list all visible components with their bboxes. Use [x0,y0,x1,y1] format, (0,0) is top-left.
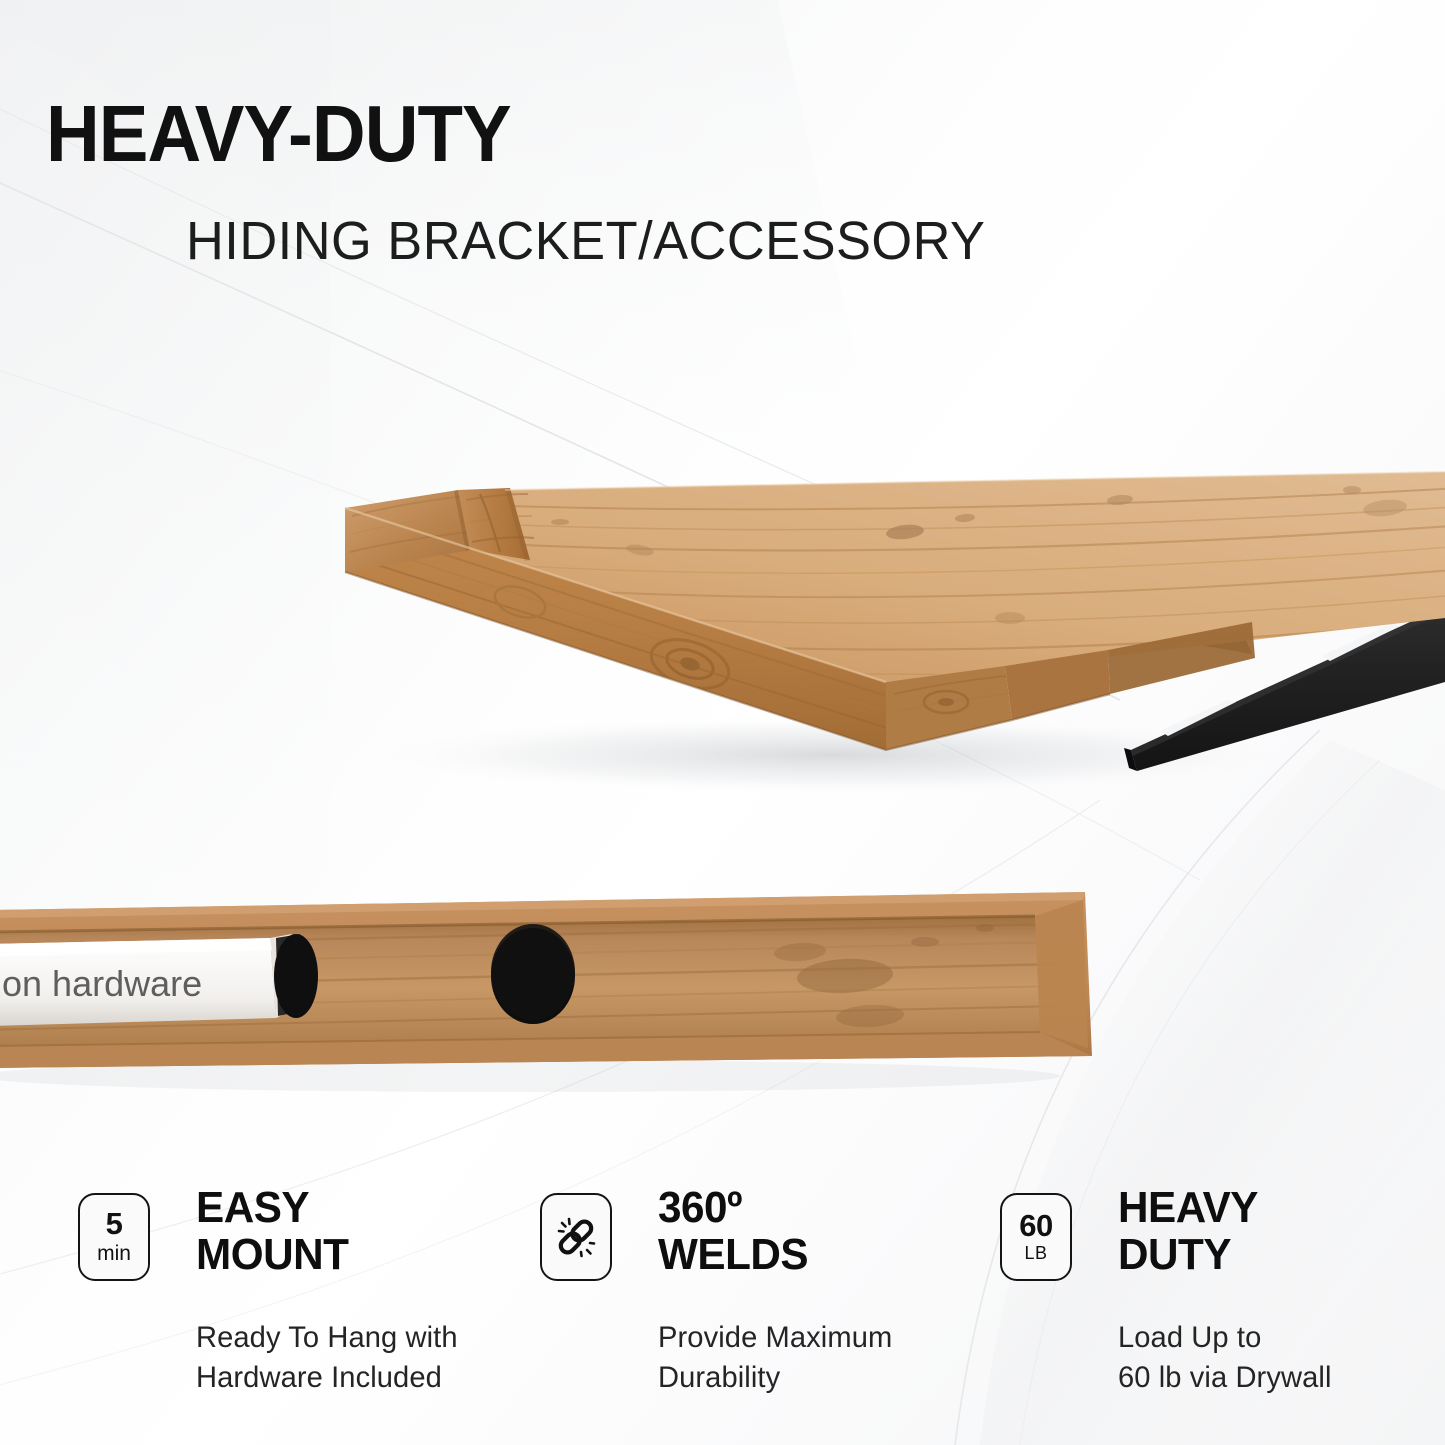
hardware-box-label: ion hardware [0,963,202,1004]
feature-easy-mount: 5 min EASY MOUNT Ready To Hang with Hard… [78,1185,518,1415]
badge-value: 60 [1019,1210,1052,1241]
badge-unit: LB [1024,1244,1047,1264]
feature-heading-line2: DUTY [1118,1232,1258,1279]
feature-heading-line2: MOUNT [196,1232,348,1279]
feature-heading-line1: EASY [196,1185,348,1232]
page-title: HEAVY-DUTY [46,96,1255,172]
headline-group: HEAVY-DUTY HIDING BRACKET/ACCESSORY [46,96,1346,172]
clock-5-min-badge: 5 min [78,1193,150,1281]
feature-desc-line2: 60 lb via Drywall [1118,1358,1332,1398]
weight-60-lb-badge: 60 LB [1000,1193,1072,1281]
shelf-channel-illustration: ion hardware [0,880,1445,1120]
hero-product-image: Installatio [0,250,1445,850]
feature-heading-line2: WELDS [658,1232,808,1279]
feature-desc-line1: Provide Maximum [658,1318,892,1358]
chain-link-glyph [553,1214,599,1260]
feature-heading-line1: 360º [658,1185,808,1232]
feature-heavy-duty: 60 LB HEAVY DUTY Load Up to 60 lb via Dr… [1000,1185,1440,1415]
shelf-with-bracket-illustration: Installatio [0,250,1445,850]
feature-desc-line2: Durability [658,1358,892,1398]
hardware-box-in-channel: ion hardware [0,934,296,1026]
shelf-underside-image: ion hardware [0,880,1445,1120]
feature-heading-line1: HEAVY [1118,1185,1258,1232]
feature-heading: 360º WELDS [658,1185,808,1278]
feature-description: Ready To Hang with Hardware Included [196,1318,458,1398]
badge-unit: min [97,1242,131,1265]
feature-heading: HEAVY DUTY [1118,1185,1258,1278]
feature-strip: 5 min EASY MOUNT Ready To Hang with Hard… [0,1185,1445,1415]
badge-value: 5 [106,1208,123,1239]
feature-heading: EASY MOUNT [196,1185,348,1278]
chain-link-weld-icon [540,1193,612,1281]
feature-desc-line1: Load Up to [1118,1318,1332,1358]
feature-desc-line1: Ready To Hang with [196,1318,458,1358]
feature-description: Provide Maximum Durability [658,1318,892,1398]
feature-desc-line2: Hardware Included [196,1358,458,1398]
feature-360-welds: 360º WELDS Provide Maximum Durability [540,1185,980,1415]
feature-description: Load Up to 60 lb via Drywall [1118,1318,1332,1398]
